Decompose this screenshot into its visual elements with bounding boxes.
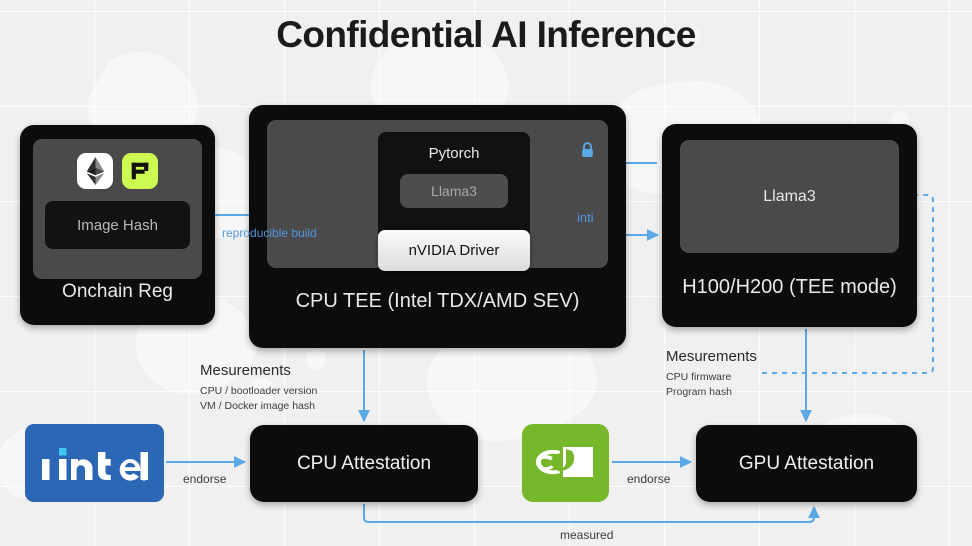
measurements-gpu-line-2: Program hash (666, 385, 757, 400)
node-gpu-attestation[interactable]: GPU Attestation (696, 425, 917, 502)
measurements-cpu-line-2: VM / Docker image hash (200, 399, 317, 414)
image-hash-chip[interactable]: Image Hash (45, 201, 190, 249)
measurements-cpu-line-1: CPU / bootloader version (200, 384, 317, 399)
cpu-attestation-label: CPU Attestation (250, 425, 478, 502)
measurements-cpu: Mesurements CPU / bootloader version VM … (200, 362, 317, 414)
pytorch-label: Pytorch (378, 145, 530, 162)
cpu-tee-inner-panel: Pytorch Llama3 nVIDIA Driver (267, 120, 608, 268)
nvidia-driver-chip[interactable]: nVIDIA Driver (378, 230, 530, 271)
cpu-tee-caption: CPU TEE (Intel TDX/AMD SEV) (249, 290, 626, 313)
init-edge-label: inti (577, 210, 594, 225)
gpu-attestation-label: GPU Attestation (696, 425, 917, 502)
gpu-inner-panel: Llama3 (680, 140, 899, 253)
page-title: Confidential AI Inference (0, 14, 972, 56)
measured-edge-label: measured (560, 528, 613, 542)
measurements-gpu-line-1: CPU firmware (666, 370, 757, 385)
measurements-cpu-title: Mesurements (200, 362, 317, 379)
lock-icon (580, 142, 595, 164)
node-onchain-reg[interactable]: Image Hash Onchain Reg (20, 125, 215, 325)
pytorch-container[interactable]: Pytorch Llama3 (378, 132, 530, 242)
nvidia-logo (522, 424, 609, 502)
onchain-reg-inner-panel: Image Hash (33, 139, 202, 279)
endorse-gpu-edge-label: endorse (627, 472, 670, 486)
measurements-gpu-title: Mesurements (666, 348, 757, 365)
node-h100-h200[interactable]: Llama3 H100/H200 (TEE mode) (662, 124, 917, 327)
phala-logo-icon (122, 153, 158, 189)
node-cpu-attestation[interactable]: CPU Attestation (250, 425, 478, 502)
endorse-cpu-edge-label: endorse (183, 472, 226, 486)
measurements-gpu: Mesurements CPU firmware Program hash (666, 348, 757, 400)
reproducible-build-edge-label: reproducible build (222, 226, 317, 240)
llama3-gpu-label: Llama3 (680, 140, 899, 253)
gpu-caption: H100/H200 (TEE mode) (662, 276, 917, 299)
onchain-reg-logos (33, 153, 202, 189)
llama3-model-chip: Llama3 (400, 174, 508, 208)
intel-logo (25, 424, 164, 502)
onchain-reg-caption: Onchain Reg (20, 281, 215, 303)
ethereum-logo-icon (77, 153, 113, 189)
